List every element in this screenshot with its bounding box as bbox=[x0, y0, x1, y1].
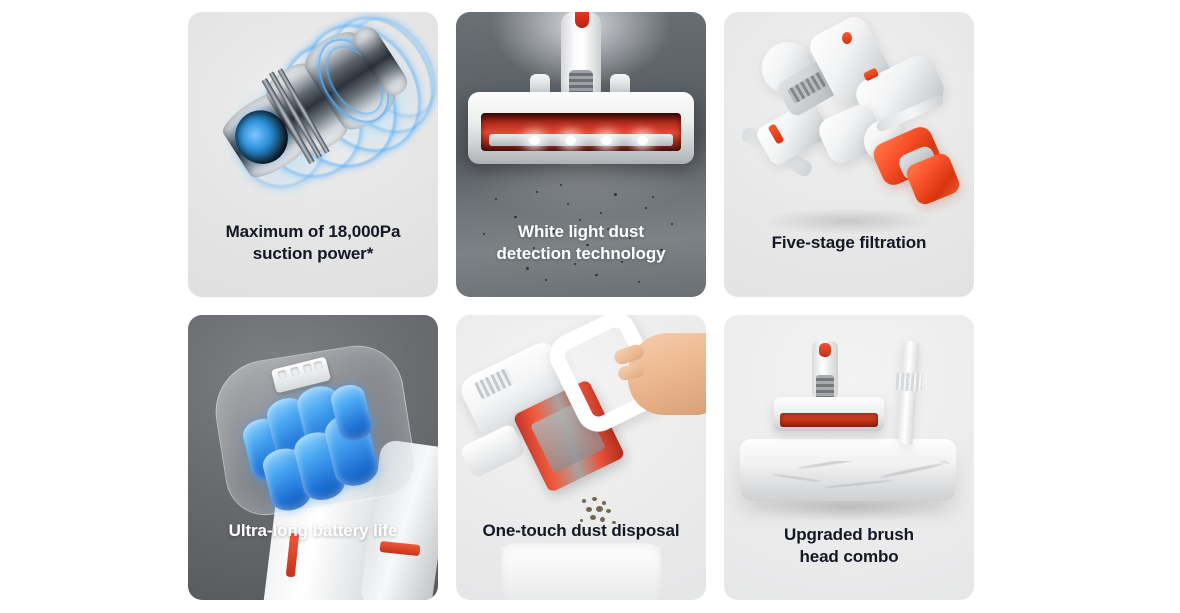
feature-card-brush-head-combo[interactable]: Upgraded brush head combo bbox=[724, 315, 974, 600]
card-caption-dust-disposal: One-touch dust disposal bbox=[456, 520, 706, 542]
feature-grid: Maximum of 18,000Pa suction power* bbox=[188, 12, 974, 600]
dust-disposal-illustration bbox=[456, 315, 706, 600]
feature-card-suction-power[interactable]: Maximum of 18,000Pa suction power* bbox=[188, 12, 438, 297]
hand-icon bbox=[628, 333, 706, 415]
feature-card-battery-life[interactable]: Ultra-long battery life bbox=[188, 315, 438, 600]
battery-illustration bbox=[188, 315, 438, 600]
card-caption-battery-life: Ultra-long battery life bbox=[188, 520, 438, 542]
brush-head-icon bbox=[468, 92, 694, 164]
feature-card-dust-detection[interactable]: White light dust detection technology bbox=[456, 12, 706, 297]
card-caption-five-stage-filtration: Five-stage filtration bbox=[724, 232, 974, 254]
feature-card-five-stage-filtration[interactable]: Five-stage filtration bbox=[724, 12, 974, 297]
feature-card-dust-disposal[interactable]: One-touch dust disposal bbox=[456, 315, 706, 600]
trash-bin-icon bbox=[501, 543, 661, 600]
card-caption-suction-power: Maximum of 18,000Pa suction power* bbox=[188, 221, 438, 264]
card-caption-dust-detection: White light dust detection technology bbox=[456, 221, 706, 264]
filtration-illustration bbox=[724, 12, 974, 297]
card-caption-brush-head-combo: Upgraded brush head combo bbox=[724, 524, 974, 567]
crevice-tool-icon bbox=[896, 341, 919, 446]
